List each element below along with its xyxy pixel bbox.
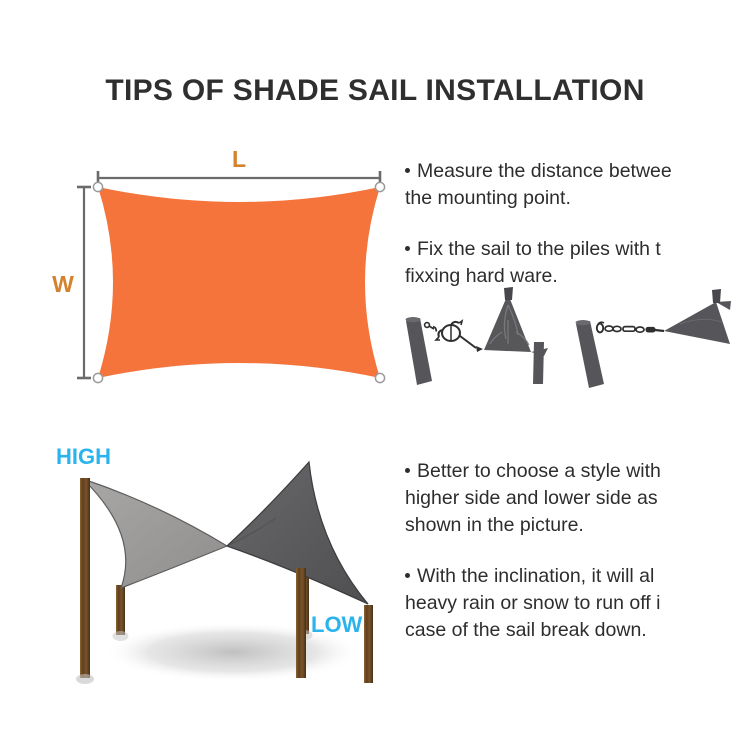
infographic-page: TIPS OF SHADE SAIL INSTALLATION <box>0 0 750 750</box>
length-dimension-line <box>98 171 380 185</box>
tip-line: higher side and lower side as <box>405 485 735 512</box>
post-back-left <box>113 585 129 641</box>
post-front-right <box>296 568 306 678</box>
tip-line: Better to choose a style with <box>405 458 735 485</box>
length-label: L <box>232 146 246 172</box>
mounting-post <box>576 320 604 388</box>
hardware-assembly-chain <box>576 289 731 388</box>
tip-paragraph: Better to choose a style with higher sid… <box>405 458 735 539</box>
carabiner-hardware <box>597 322 604 332</box>
tips-text-bottom: Better to choose a style with higher sid… <box>405 458 735 658</box>
width-label: W <box>52 271 74 297</box>
tension-rope <box>655 330 664 331</box>
tip-line: Fix the sail to the piles with t <box>405 236 735 263</box>
bullet-dot-icon <box>405 246 410 251</box>
tip-line: the mounting point. <box>405 185 735 212</box>
tip-paragraph: Measure the distance betwee the mounting… <box>405 158 735 212</box>
rectangular-sail-diagram: L W <box>50 145 410 405</box>
high-label: HIGH <box>56 444 111 469</box>
sail-corner-panel <box>664 289 731 344</box>
inclined-sail-diagram: HIGH LOW <box>28 440 408 700</box>
orange-shade-sail <box>98 187 380 378</box>
rope-thimble <box>476 346 483 352</box>
tip-line: shown in the picture. <box>405 512 735 539</box>
tip-line: Measure the distance betwee <box>405 158 735 185</box>
bullet-dot-icon <box>405 468 410 473</box>
hardware-assembly-turnbuckle <box>406 287 548 385</box>
tip-line: heavy rain or snow to run off i <box>405 590 735 617</box>
support-post <box>533 342 544 384</box>
shade-sail-light <box>83 479 227 588</box>
width-dimension-line <box>77 187 91 378</box>
shackle-hardware <box>425 323 437 332</box>
bullet-dot-icon <box>405 573 410 578</box>
tip-line: With the inclination, it will al <box>405 563 735 590</box>
tip-line: case of the sail break down. <box>405 617 735 644</box>
chain-links <box>605 326 655 332</box>
post-front-left-high <box>76 478 94 684</box>
tip-paragraph: With the inclination, it will al heavy r… <box>405 563 735 644</box>
post-far-right-low <box>364 605 373 683</box>
bullet-dot-icon <box>405 168 410 173</box>
turnbuckle-hardware <box>436 321 462 341</box>
fixing-hardware-illustrations <box>398 280 750 390</box>
page-title: TIPS OF SHADE SAIL INSTALLATION <box>0 74 750 108</box>
tension-rope <box>460 336 476 348</box>
low-label: LOW <box>311 612 363 637</box>
